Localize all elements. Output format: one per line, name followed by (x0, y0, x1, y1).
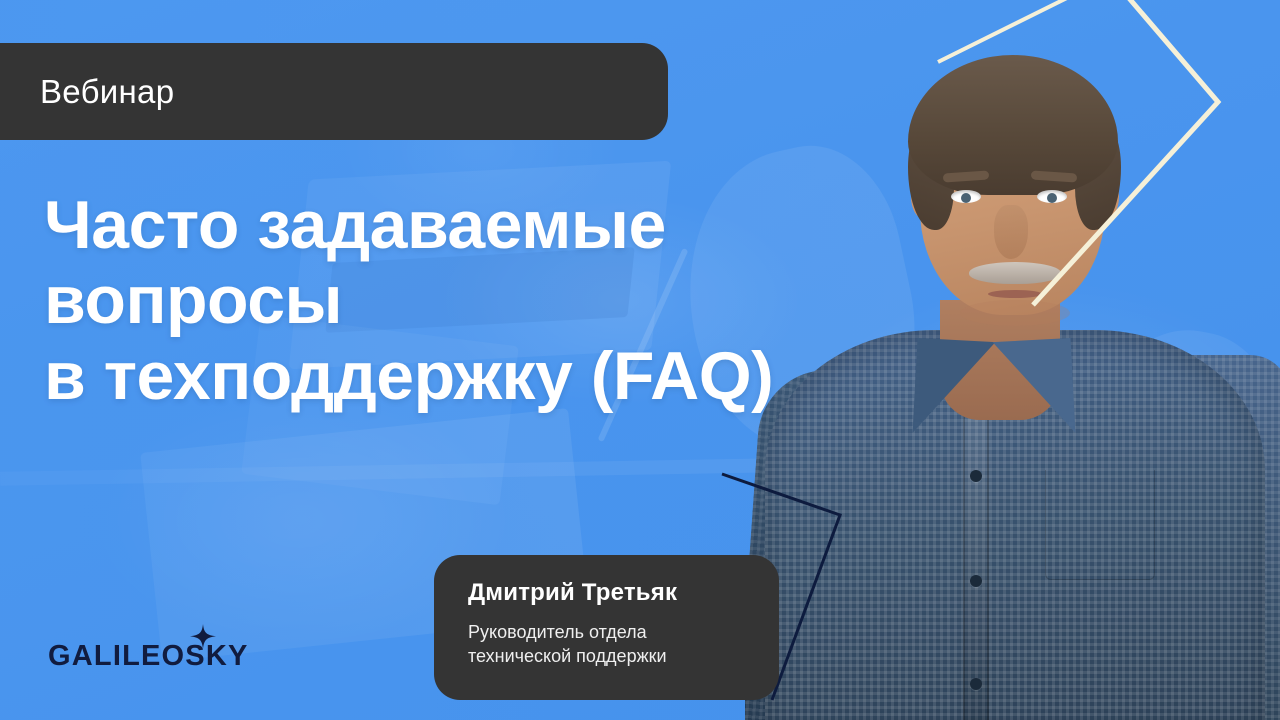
sparkle-star-icon (190, 624, 216, 650)
presenter-shirt-button-3 (970, 678, 982, 690)
speaker-role-line-2: технической поддержки (468, 645, 779, 669)
page-title: Часто задаваемые вопросы в техподдержку … (44, 188, 904, 414)
presenter-eye-right (1037, 190, 1067, 203)
presenter-chin (960, 300, 1070, 326)
presenter-shirt-placket (963, 400, 989, 720)
webinar-title-card: Вебинар Часто задаваемые вопросы в техпо… (0, 0, 1280, 720)
presenter-mouth (988, 290, 1042, 298)
presenter-shirt-button-1 (970, 470, 982, 482)
presenter-nose (994, 205, 1028, 259)
speaker-role-line-1: Руководитель отдела (468, 621, 779, 645)
speaker-name: Дмитрий Третьяк (468, 579, 779, 607)
webinar-badge: Вебинар (0, 43, 668, 140)
presenter-shirt-button-2 (970, 575, 982, 587)
title-line-2: вопросы (44, 263, 904, 338)
title-line-1: Часто задаваемые (44, 188, 904, 263)
logo-wordmark: GALILEOSKY (48, 640, 249, 673)
presenter-eye-left (951, 190, 981, 203)
title-line-3: в техподдержку (FAQ) (44, 339, 904, 414)
presenter-shirt-pocket (1045, 470, 1155, 580)
presenter-collar-right (993, 338, 1076, 437)
webinar-badge-label: Вебинар (40, 73, 174, 111)
presenter-hair (908, 55, 1118, 195)
presenter-mustache (969, 262, 1061, 284)
speaker-card: Дмитрий Третьяк Руководитель отдела техн… (434, 555, 779, 700)
galileosky-logo: GALILEOSKY (48, 640, 249, 673)
presenter-collar-left (913, 338, 996, 437)
